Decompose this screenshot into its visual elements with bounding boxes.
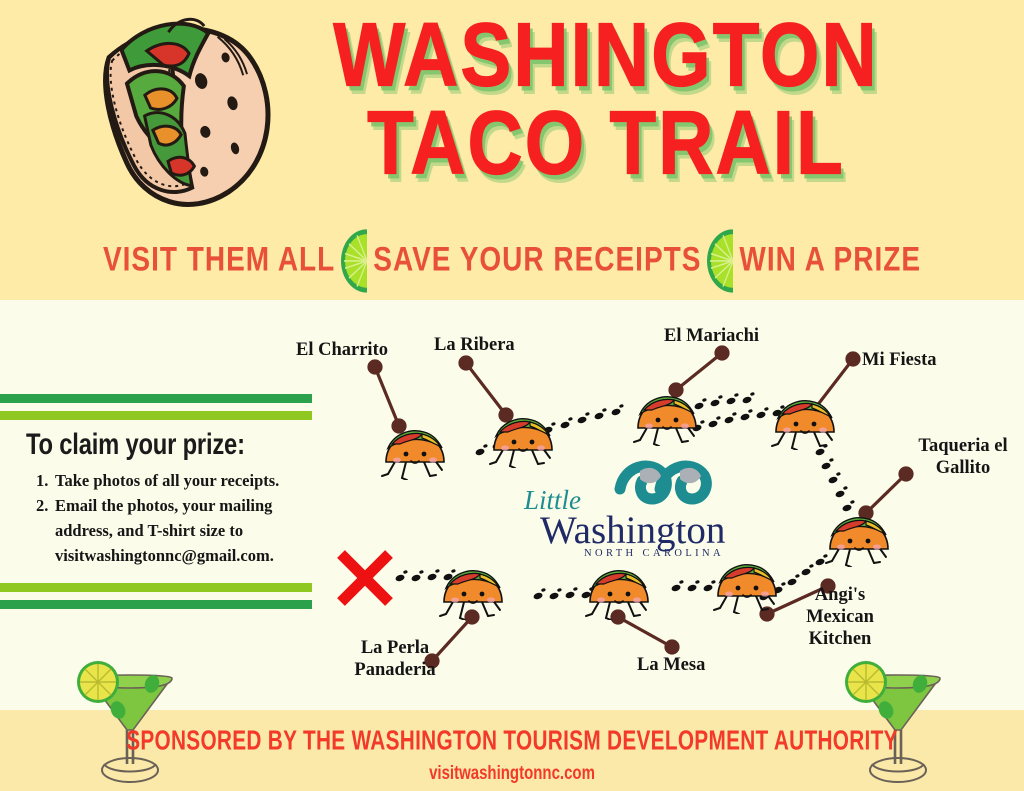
taco-character [710,552,784,614]
x-mark-icon [335,550,395,608]
stop-label-taqueria-el-gallito[interactable]: Taqueria el Gallito [908,436,1018,480]
stop-label-mi-fiesta[interactable]: Mi Fiesta [862,350,937,372]
taco-icon [88,8,288,223]
stop-label-el-mariachi[interactable]: El Mariachi [664,326,759,348]
stop-label-angis-mexican-kitchen[interactable]: Angi's Mexican Kitchen [790,585,890,650]
taco-character [822,505,896,567]
title-line-1: WASHINGTON [267,14,945,97]
little-washington-logo: Little Washington NORTH CAROLINA [512,455,732,560]
tagline-part-2: SAVE YOUR RECEIPTS [373,240,701,279]
stop-label-la-perla-panaderia[interactable]: La Perla Panaderia [340,638,450,682]
taco-character [768,388,842,450]
stop-label-la-ribera[interactable]: La Ribera [434,335,515,357]
taco-character [436,558,510,620]
logo-washington: Washington [540,509,725,552]
lime-half-icon [707,229,733,292]
stop-label-el-charrito[interactable]: El Charrito [296,340,388,362]
tagline: VISIT THEM ALL SAVE YOUR RECEIPTS [0,228,1024,291]
lime-half-icon [341,229,367,292]
poster-title: WASHINGTON TACO TRAIL [286,14,926,168]
taco-character [582,558,656,620]
website-url[interactable]: visitwashingtonnc.com [0,762,1024,784]
title-line-2: TACO TRAIL [267,102,945,185]
tagline-part-3: WIN A PRIZE [739,240,921,279]
tagline-part-1: VISIT THEM ALL [103,240,335,279]
logo-state: NORTH CAROLINA [584,548,724,559]
stop-label-la-mesa[interactable]: La Mesa [637,655,705,677]
taco-trail-poster: WASHINGTON TACO TRAIL VISIT THEM ALL SAV… [0,0,1024,791]
sponsor-text: SPONSORED BY THE WASHINGTON TOURISM DEVE… [5,726,1019,757]
taco-character [378,418,452,480]
taco-character [630,384,704,446]
